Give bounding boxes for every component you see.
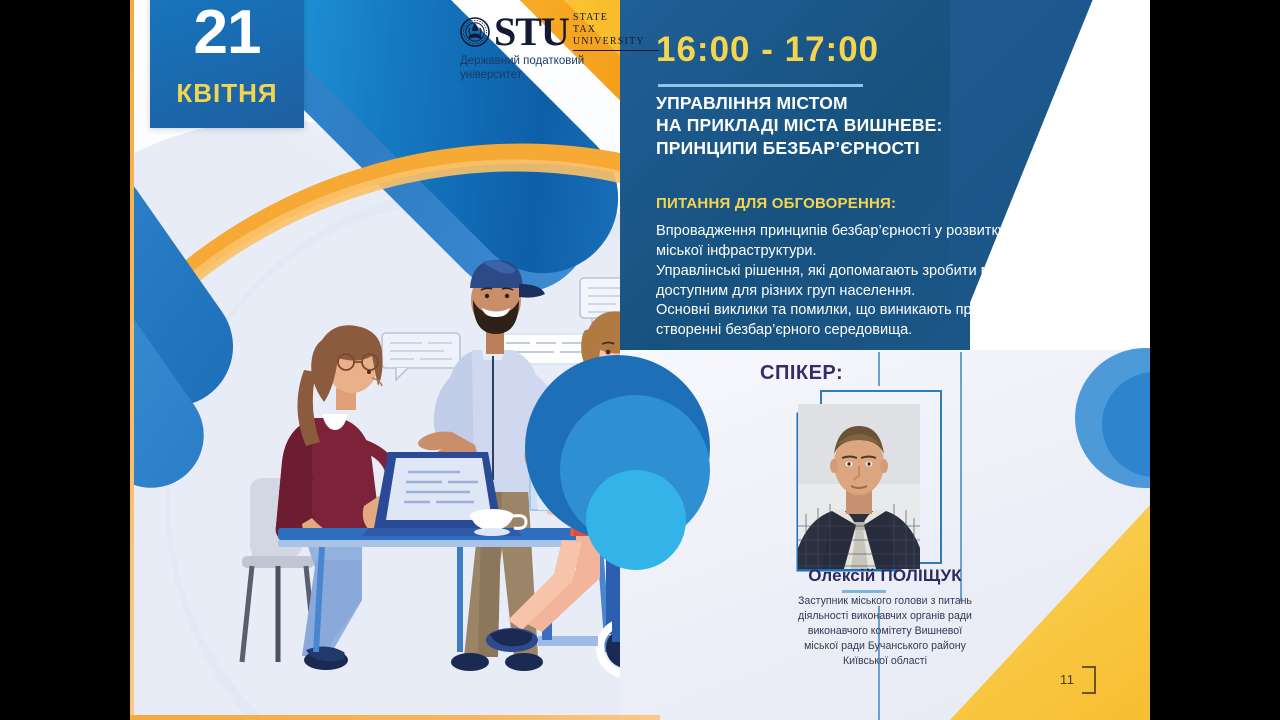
speaker-name-divider [842, 590, 886, 593]
decor-circle-left-3 [586, 470, 686, 570]
logo-ukrainian-name: Державний податковий університет [460, 54, 660, 82]
logo-mark: STU [494, 13, 569, 51]
university-logo: STU STATE TAX UNIVERSITY Державний подат… [460, 12, 660, 82]
date-month: КВІТНЯ [150, 78, 304, 109]
letterbox-bar-right [1150, 0, 1280, 720]
question-item: Управлінські рішення, які допомагають зр… [656, 262, 1076, 302]
letterbox-bar-left [0, 0, 130, 720]
speaker-label: СПІКЕР: [760, 362, 843, 385]
logo-line-3: UNIVERSITY [573, 36, 659, 48]
logo-line-2: TAX [573, 24, 659, 36]
university-seal-icon [460, 15, 490, 49]
questions-label: ПИТАННЯ ДЛЯ ОБГОВОРЕННЯ: [656, 195, 896, 212]
slide-stage: 11 16:00 - 17:00 УПРАВЛІННЯ МІСТОМ НА ПР… [0, 0, 1280, 720]
session-title: УПРАВЛІННЯ МІСТОМ НА ПРИКЛАДІ МІСТА ВИШН… [656, 92, 986, 159]
question-item: Впровадження принципів безбар’єрності у … [656, 222, 1076, 262]
speaker-role: Заступник міського голови з питань діяль… [680, 594, 1090, 669]
panel-bottom-orange-edge [130, 715, 660, 720]
speaker-portrait-photo [798, 404, 920, 569]
question-item: Основні виклики та помилки, що виникають… [656, 301, 1076, 341]
content-panel: 11 16:00 - 17:00 УПРАВЛІННЯ МІСТОМ НА ПР… [620, 0, 1150, 720]
logo-divider [573, 50, 659, 52]
accent-line-right [960, 352, 962, 602]
date-badge: 21 КВІТНЯ [150, 0, 304, 128]
panel-left-orange-edge [130, 0, 134, 720]
session-time: 16:00 - 17:00 [656, 32, 879, 67]
accent-line-top [878, 352, 880, 386]
questions-list: Впровадження принципів безбар’єрності у … [656, 222, 1076, 341]
logo-line-1: STATE [573, 12, 659, 24]
presentation-slide: 11 16:00 - 17:00 УПРАВЛІННЯ МІСТОМ НА ПР… [130, 0, 1150, 720]
time-divider [658, 84, 863, 87]
date-day: 21 [150, 2, 304, 64]
speaker-name: Олексій ПОЛІЩУК [660, 566, 1110, 586]
page-number-bracket [1082, 666, 1096, 694]
page-number: 11 [1060, 672, 1075, 687]
